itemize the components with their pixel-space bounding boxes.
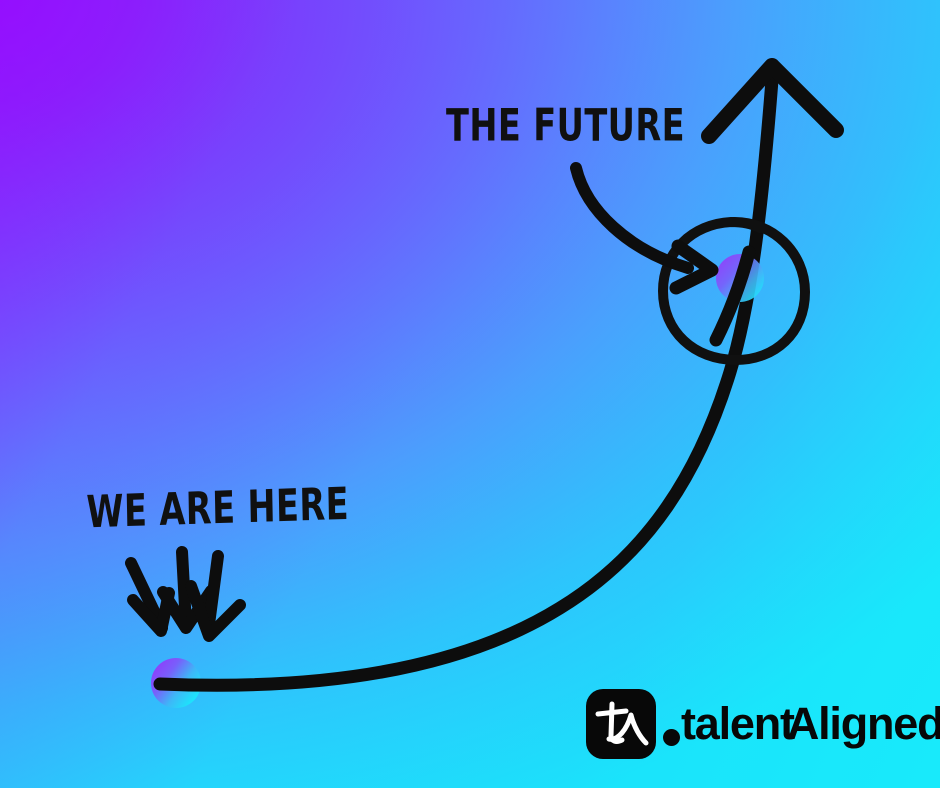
down-arrows-group (131, 552, 240, 636)
brand-logo[interactable]: talentAligned (586, 688, 940, 760)
logo-word-talent: talent (681, 698, 794, 749)
future-label: THE FUTURE (446, 99, 685, 151)
logo-separator-dot (663, 729, 680, 746)
logo-mark (586, 689, 656, 759)
here-label: WE ARE HERE (86, 478, 349, 538)
logo-wordmark: talentAligned (681, 701, 940, 746)
logo-word-aligned: Aligned (787, 698, 940, 749)
growth-curve (160, 80, 772, 685)
ta-monogram-icon (586, 689, 656, 759)
poster-canvas: THE FUTURE WE ARE HERE talentAligned (0, 0, 940, 788)
